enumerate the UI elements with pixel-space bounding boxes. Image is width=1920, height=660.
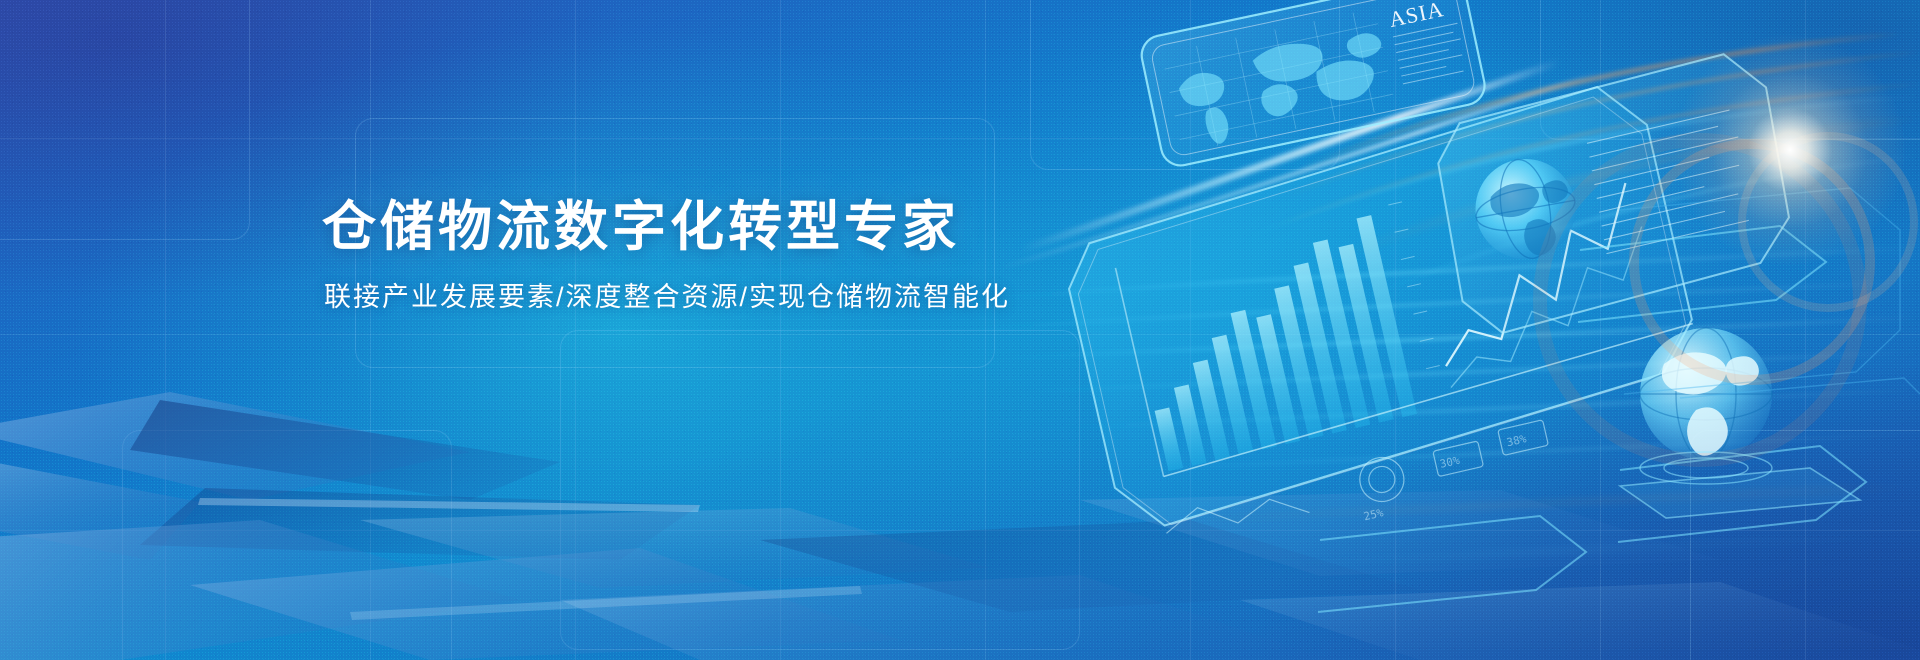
decorative-frame: [0, 0, 250, 240]
decorative-frame: [1030, 0, 1340, 170]
svg-text:38%: 38%: [1505, 432, 1528, 449]
banner-subtitle: 联接产业发展要素/深度整合资源/实现仓储物流智能化: [324, 280, 1122, 314]
line-chart-icon: [1415, 183, 1657, 366]
svg-text:25%: 25%: [1362, 506, 1385, 523]
bar-chart-icon: [1123, 215, 1417, 471]
banner-title: 仓储物流数字化转型专家: [322, 196, 1122, 258]
decorative-frame: [1690, 430, 1920, 660]
hero-banner: 25% 30% 38%: [0, 0, 1920, 660]
globe-icon: [1468, 151, 1584, 267]
banner-copy: 仓储物流数字化转型专家 联接产业发展要素/深度整合资源/实现仓储物流智能化: [322, 196, 1122, 314]
decorative-frame: [1540, 0, 1920, 140]
decorative-frame: [122, 430, 452, 660]
svg-text:ASIA: ASIA: [1387, 0, 1446, 32]
svg-text:30%: 30%: [1439, 454, 1462, 471]
decorative-frame: [560, 330, 1080, 650]
